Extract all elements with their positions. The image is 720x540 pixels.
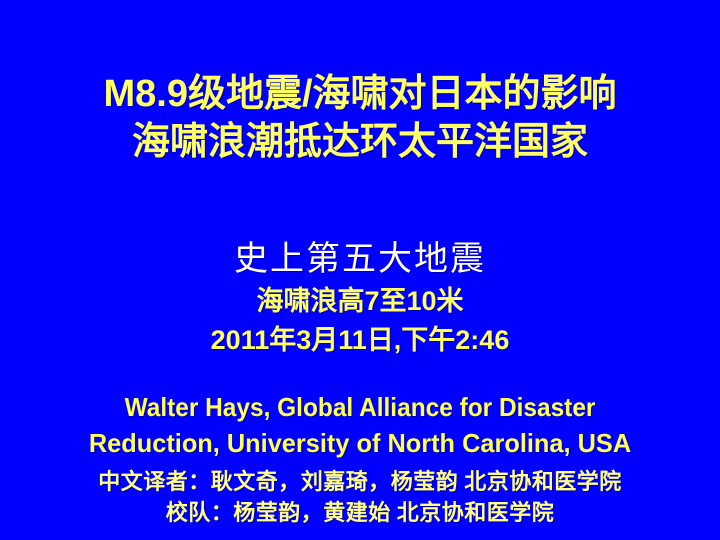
author-line-1: Walter Hays, Global Alliance for Disaste… [22,389,699,425]
translator-line: 中文译者：耿文奇，刘嘉琦，杨莹韵 北京协和医学院 [0,466,720,497]
presentation-slide: M8.9级地震/海啸对日本的影响 海啸浪潮抵达环太平洋国家 史上第五大地震 海啸… [0,0,720,540]
translator-credits: 中文译者：耿文奇，刘嘉琦，杨莹韵 北京协和医学院 校队：杨莹韵，黄建始 北京协和… [0,466,720,528]
author-line-2: Reduction, University of North Carolina,… [9,425,711,461]
slide-title: M8.9级地震/海啸对日本的影响 海啸浪潮抵达环太平洋国家 [0,70,720,166]
slide-author: Walter Hays, Global Alliance for Disaste… [0,389,720,461]
slide-subtitle: 史上第五大地震 海啸浪高7至10米 2011年3月11日,下午2:46 [0,238,720,360]
subtitle-wave-height-line: 海啸浪高7至10米 [0,282,720,320]
subtitle-rank-line: 史上第五大地震 [0,238,720,282]
slide-title-line-2: 海啸浪潮抵达环太平洋国家 [0,118,720,166]
slide-title-line-1: M8.9级地震/海啸对日本的影响 [0,70,720,118]
subtitle-datetime-line: 2011年3月11日,下午2:46 [0,320,720,360]
reviewer-line: 校队：杨莹韵，黄建始 北京协和医学院 [0,497,720,528]
